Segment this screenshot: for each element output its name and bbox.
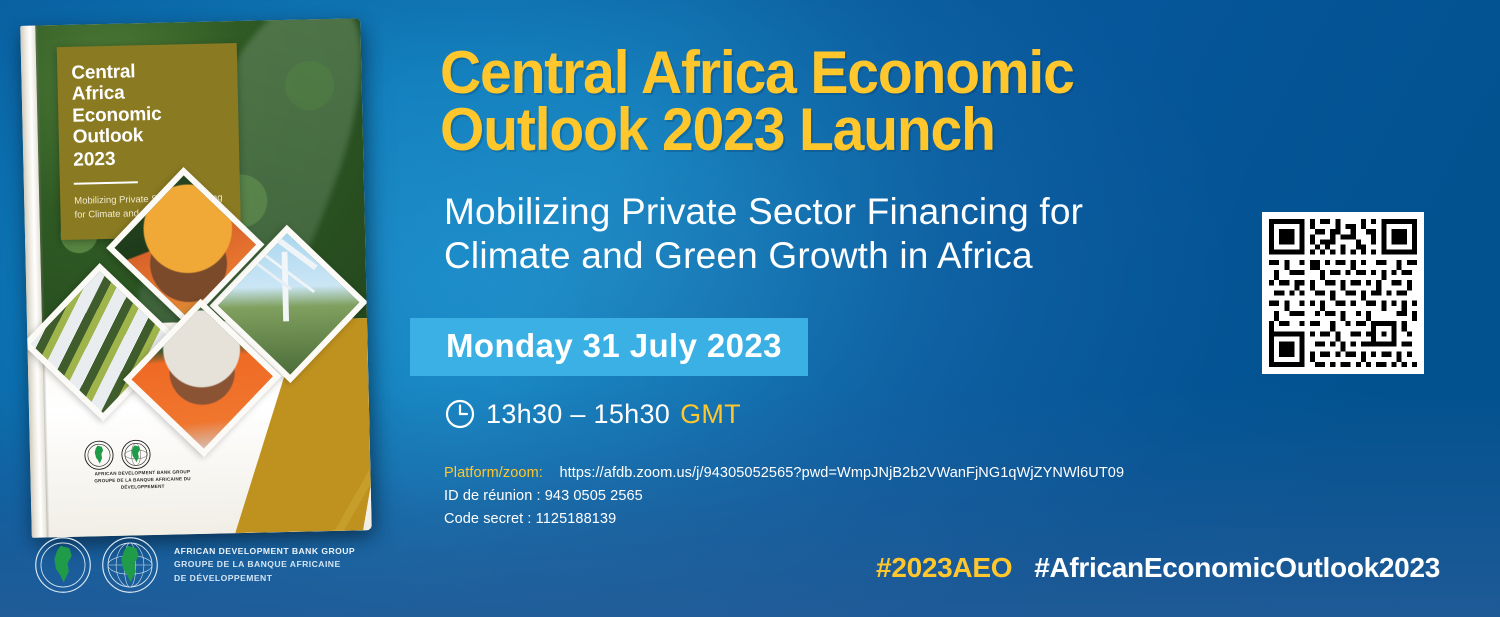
afdb-logo-lockup: AFRICAN DEVELOPMENT BANK GROUP GROUPE DE… (34, 536, 355, 594)
banner-content: Central Africa Economic Outlook 2023 Lau… (440, 0, 1240, 617)
report-book-mockup: Central Africa Economic Outlook 2023 Mob… (26, 22, 386, 542)
cover-divider (74, 182, 138, 185)
qr-code-icon (1269, 219, 1417, 367)
event-banner: Central Africa Economic Outlook 2023 Mob… (0, 0, 1500, 617)
event-timezone: GMT (680, 399, 741, 430)
zoom-link-row: Platform/zoom: https://afdb.zoom.us/j/94… (444, 462, 1124, 485)
social-hashtags: #2023AEO #AfricanEconomicOutlook2023 (876, 552, 1440, 584)
afdb-seal-icon (84, 440, 115, 471)
hashtag-secondary: #AfricanEconomicOutlook2023 (1034, 552, 1440, 584)
hashtag-primary: #2023AEO (876, 552, 1012, 584)
zoom-meeting-url[interactable]: https://afdb.zoom.us/j/94305052565?pwd=W… (559, 465, 1124, 481)
zoom-platform-label: Platform/zoom: (444, 465, 543, 481)
zoom-meeting-id: ID de réunion : 943 0505 2565 (444, 485, 1124, 508)
afdb-org-name: AFRICAN DEVELOPMENT BANK GROUP GROUPE DE… (174, 545, 355, 585)
event-headline: Central Africa Economic Outlook 2023 Lau… (440, 44, 1181, 158)
afdb-seal-icon (34, 536, 92, 594)
cover-year: 2023 (73, 146, 225, 171)
headline-line-2: Outlook 2023 Launch (440, 101, 1181, 158)
afdb-globe-seal-icon (101, 536, 159, 594)
event-date-badge: Monday 31 July 2023 (410, 318, 808, 376)
subtitle-line-2: Climate and Green Growth in Africa (444, 234, 1214, 278)
afdb-name-en: AFRICAN DEVELOPMENT BANK GROUP (174, 545, 355, 558)
subtitle-line-1: Mobilizing Private Sector Financing for (444, 190, 1214, 234)
book-cover: Central Africa Economic Outlook 2023 Mob… (20, 18, 372, 538)
afdb-name-fr-line2: DE DÉVELOPPEMENT (174, 572, 355, 585)
headline-line-1: Central Africa Economic (440, 44, 1181, 101)
event-time-range: 13h30 – 15h30 (486, 399, 670, 430)
cover-afdb-seals (84, 439, 152, 471)
zoom-passcode: Code secret : 1125188139 (444, 508, 1124, 531)
zoom-connection-details: Platform/zoom: https://afdb.zoom.us/j/94… (444, 462, 1124, 532)
cover-title-line4: Outlook (73, 123, 225, 148)
afdb-globe-seal-icon (121, 439, 152, 470)
qr-code[interactable] (1262, 212, 1424, 374)
clock-icon (444, 398, 476, 430)
afdb-name-fr-line1: GROUPE DE LA BANQUE AFRICAINE (174, 558, 355, 571)
cover-logo-caption: AFRICAN DEVELOPMENT BANK GROUP GROUPE DE… (72, 469, 212, 493)
event-subtitle: Mobilizing Private Sector Financing for … (444, 190, 1214, 277)
event-time-row: 13h30 – 15h30 GMT (444, 398, 741, 430)
